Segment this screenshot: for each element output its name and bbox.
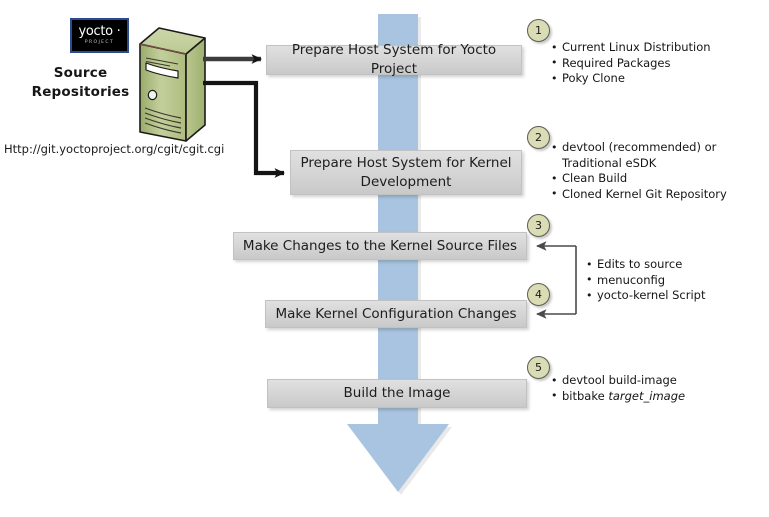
server-tower-icon <box>140 28 205 141</box>
list-item: yocto-kernel Script <box>586 288 751 304</box>
step-number-2: 2 <box>527 126 550 149</box>
list-item: devtool (recommended) or Traditional eSD… <box>551 140 731 171</box>
list-item: Current Linux Distribution <box>551 40 761 56</box>
source-repositories-label: Source Repositories <box>18 64 143 102</box>
list-item: Poky Clone <box>551 71 761 87</box>
list-item: Required Packages <box>551 56 761 72</box>
list-item: devtool build-image <box>551 373 741 389</box>
yocto-project-logo: yocto · PROJECT <box>70 18 129 53</box>
connector-server-to-step2 <box>203 83 284 173</box>
step1-bullet-list: Current Linux Distribution Required Pack… <box>551 40 761 87</box>
bitbake-target-image-arg: target_image <box>608 389 685 403</box>
step5-bullet-list: devtool build-image bitbake target_image <box>551 373 741 404</box>
process-box-step1[interactable]: Prepare Host System for Yocto Project <box>266 45 522 75</box>
step-number-3: 3 <box>527 214 550 237</box>
list-item: menuconfig <box>586 273 751 289</box>
bitbake-command-prefix: bitbake <box>562 389 608 403</box>
list-item: Clean Build <box>551 171 731 187</box>
process-box-step3[interactable]: Make Changes to the Kernel Source Files <box>233 232 527 260</box>
step3-step4-bullet-list: Edits to source menuconfig yocto-kernel … <box>586 257 751 304</box>
step-number-1: 1 <box>527 19 550 42</box>
list-item: Edits to source <box>586 257 751 273</box>
process-box-step5[interactable]: Build the Image <box>267 379 527 408</box>
yocto-logo-wordmark: yocto · <box>78 25 120 38</box>
list-item: bitbake target_image <box>551 389 741 405</box>
process-box-step2[interactable]: Prepare Host System for Kernel Developme… <box>290 150 522 195</box>
source-label-line1: Source <box>18 64 143 83</box>
step2-bullet-list: devtool (recommended) or Traditional eSD… <box>551 140 731 202</box>
step-number-4: 4 <box>527 283 550 306</box>
source-repository-url: Http://git.yoctoproject.org/cgit/cgit.cg… <box>4 142 229 156</box>
list-item: Cloned Kernel Git Repository <box>551 187 731 203</box>
process-box-step4[interactable]: Make Kernel Configuration Changes <box>265 300 527 328</box>
yocto-logo-subtext: PROJECT <box>85 39 114 46</box>
source-label-line2: Repositories <box>18 83 143 102</box>
step-number-5: 5 <box>527 356 550 379</box>
